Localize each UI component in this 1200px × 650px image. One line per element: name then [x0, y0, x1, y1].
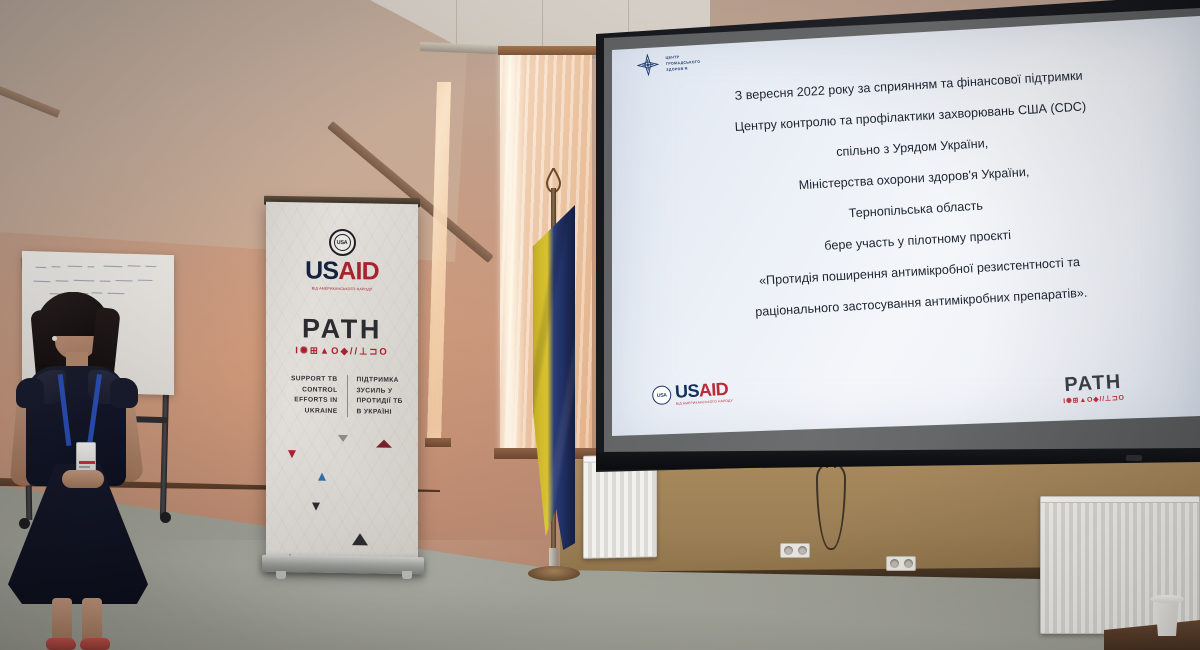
presenter-sleeve-right [110, 378, 138, 408]
presenter-hands [62, 470, 104, 488]
usaid-word-accent: AID [698, 379, 728, 401]
banner-triangle-decorations [266, 202, 418, 574]
flag-stand-base [528, 566, 580, 581]
slide-content: ЦЕНТР ГРОМАДСЬКОГО ЗДОРОВ'Я З вересня 20… [610, 0, 1200, 443]
usaid-word-primary: US [675, 381, 700, 402]
presentation-room-photo: ЦЕНТР ГРОМАДСЬКОГО ЗДОРОВ'Я З вересня 20… [0, 0, 1200, 650]
presenter-leg-right [82, 598, 102, 642]
banner-foot-right [402, 571, 412, 579]
public-health-center-logo: ЦЕНТР ГРОМАДСЬКОГО ЗДОРОВ'Я [636, 51, 701, 77]
radiator-cap [1041, 497, 1199, 503]
wall-socket-left [780, 543, 810, 558]
presenter-earring [52, 336, 57, 341]
usaid-seal-text: USA [657, 392, 667, 399]
window-header-trim [498, 46, 598, 55]
compass-diamond-icon [636, 53, 659, 76]
usaid-seal-icon: USA [652, 385, 672, 405]
presenter-shoe-right [80, 638, 110, 650]
window-light-glow [496, 52, 524, 452]
ph-logo-line-3: ЗДОРОВ'Я [666, 65, 701, 72]
presenter [0, 286, 180, 650]
slide-usaid-logo: USA USAID ВІД АМЕРИКАНСЬКОГО НАРОДУ [652, 380, 733, 408]
presenter-sleeve-left [16, 378, 44, 408]
slide-path-logo: PATH I✺⊞▲O◆//⊥⊐O [1062, 372, 1125, 406]
conference-name-badge [76, 442, 96, 472]
wall-socket-right [886, 556, 916, 571]
slide-body-text: З вересня 2022 року за сприянням та фіна… [628, 54, 1200, 334]
presenter-shoe-left [46, 638, 76, 650]
path-wordmark: PATH [1062, 372, 1125, 396]
projection-screen-knob [1126, 455, 1142, 461]
rollup-banner: USA USAID ВІД АМЕРИКАНСЬКОГО НАРОДУ PATH… [266, 202, 418, 574]
banner-usaid-seal-text: USA [337, 239, 348, 245]
banner-foot-left [276, 571, 286, 579]
banner-base [262, 555, 424, 575]
paper-cup-rim [1150, 595, 1184, 603]
presenter-leg-left [52, 598, 72, 642]
window-left-sill [425, 438, 451, 447]
